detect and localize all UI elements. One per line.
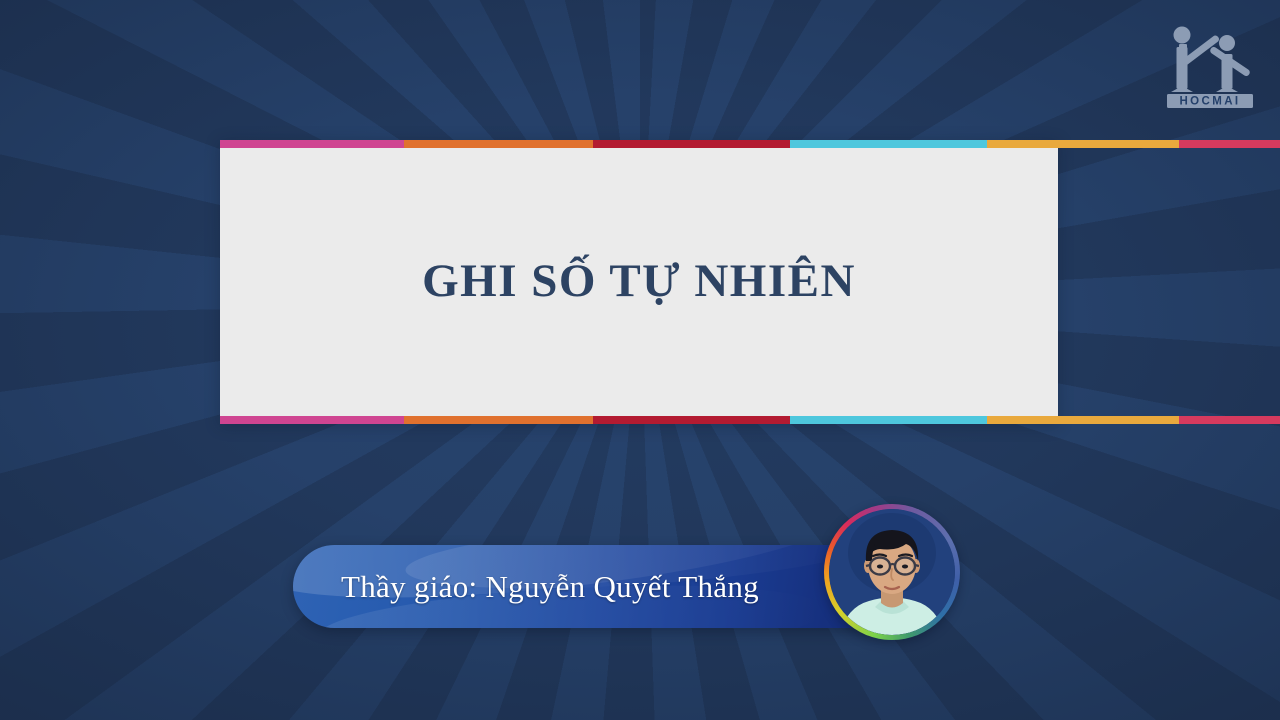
logo-figures-icon bbox=[1171, 27, 1251, 93]
logo-wordmark-plate: HOCMAI bbox=[1167, 94, 1253, 108]
title-card: GHI SỐ TỰ NHIÊN bbox=[220, 140, 1058, 424]
segment-orange bbox=[404, 416, 593, 424]
segment-amber bbox=[987, 416, 1180, 424]
segment-magenta bbox=[220, 416, 404, 424]
segment-magenta bbox=[220, 140, 404, 148]
title-card-body: GHI SỐ TỰ NHIÊN bbox=[220, 148, 1058, 416]
segment-cyan bbox=[790, 140, 987, 148]
presenter-avatar bbox=[824, 504, 960, 640]
accent-bar-top bbox=[220, 140, 1058, 148]
presenter-avatar-photo bbox=[829, 509, 955, 635]
presenter-name: Thầy giáo: Nguyễn Quyết Thắng bbox=[293, 545, 913, 628]
segment-amber bbox=[987, 140, 1180, 148]
slide-stage: HOCMAI GHI SỐ TỰ NHIÊN Thầy giáo: Nguyễn… bbox=[0, 0, 1280, 720]
page-title: GHI SỐ TỰ NHIÊN bbox=[422, 256, 856, 308]
segment-orange bbox=[404, 140, 593, 148]
logo-wordmark: HOCMAI bbox=[1179, 96, 1240, 108]
segment-maroon bbox=[593, 416, 790, 424]
accent-bar-bottom bbox=[220, 416, 1058, 424]
segment-crimson bbox=[1179, 416, 1280, 424]
segment-cyan bbox=[790, 416, 987, 424]
presenter-banner: Thầy giáo: Nguyễn Quyết Thắng bbox=[293, 545, 913, 628]
segment-crimson bbox=[1179, 140, 1280, 148]
hocmai-logo[interactable]: HOCMAI bbox=[1155, 18, 1265, 108]
segment-maroon bbox=[593, 140, 790, 148]
